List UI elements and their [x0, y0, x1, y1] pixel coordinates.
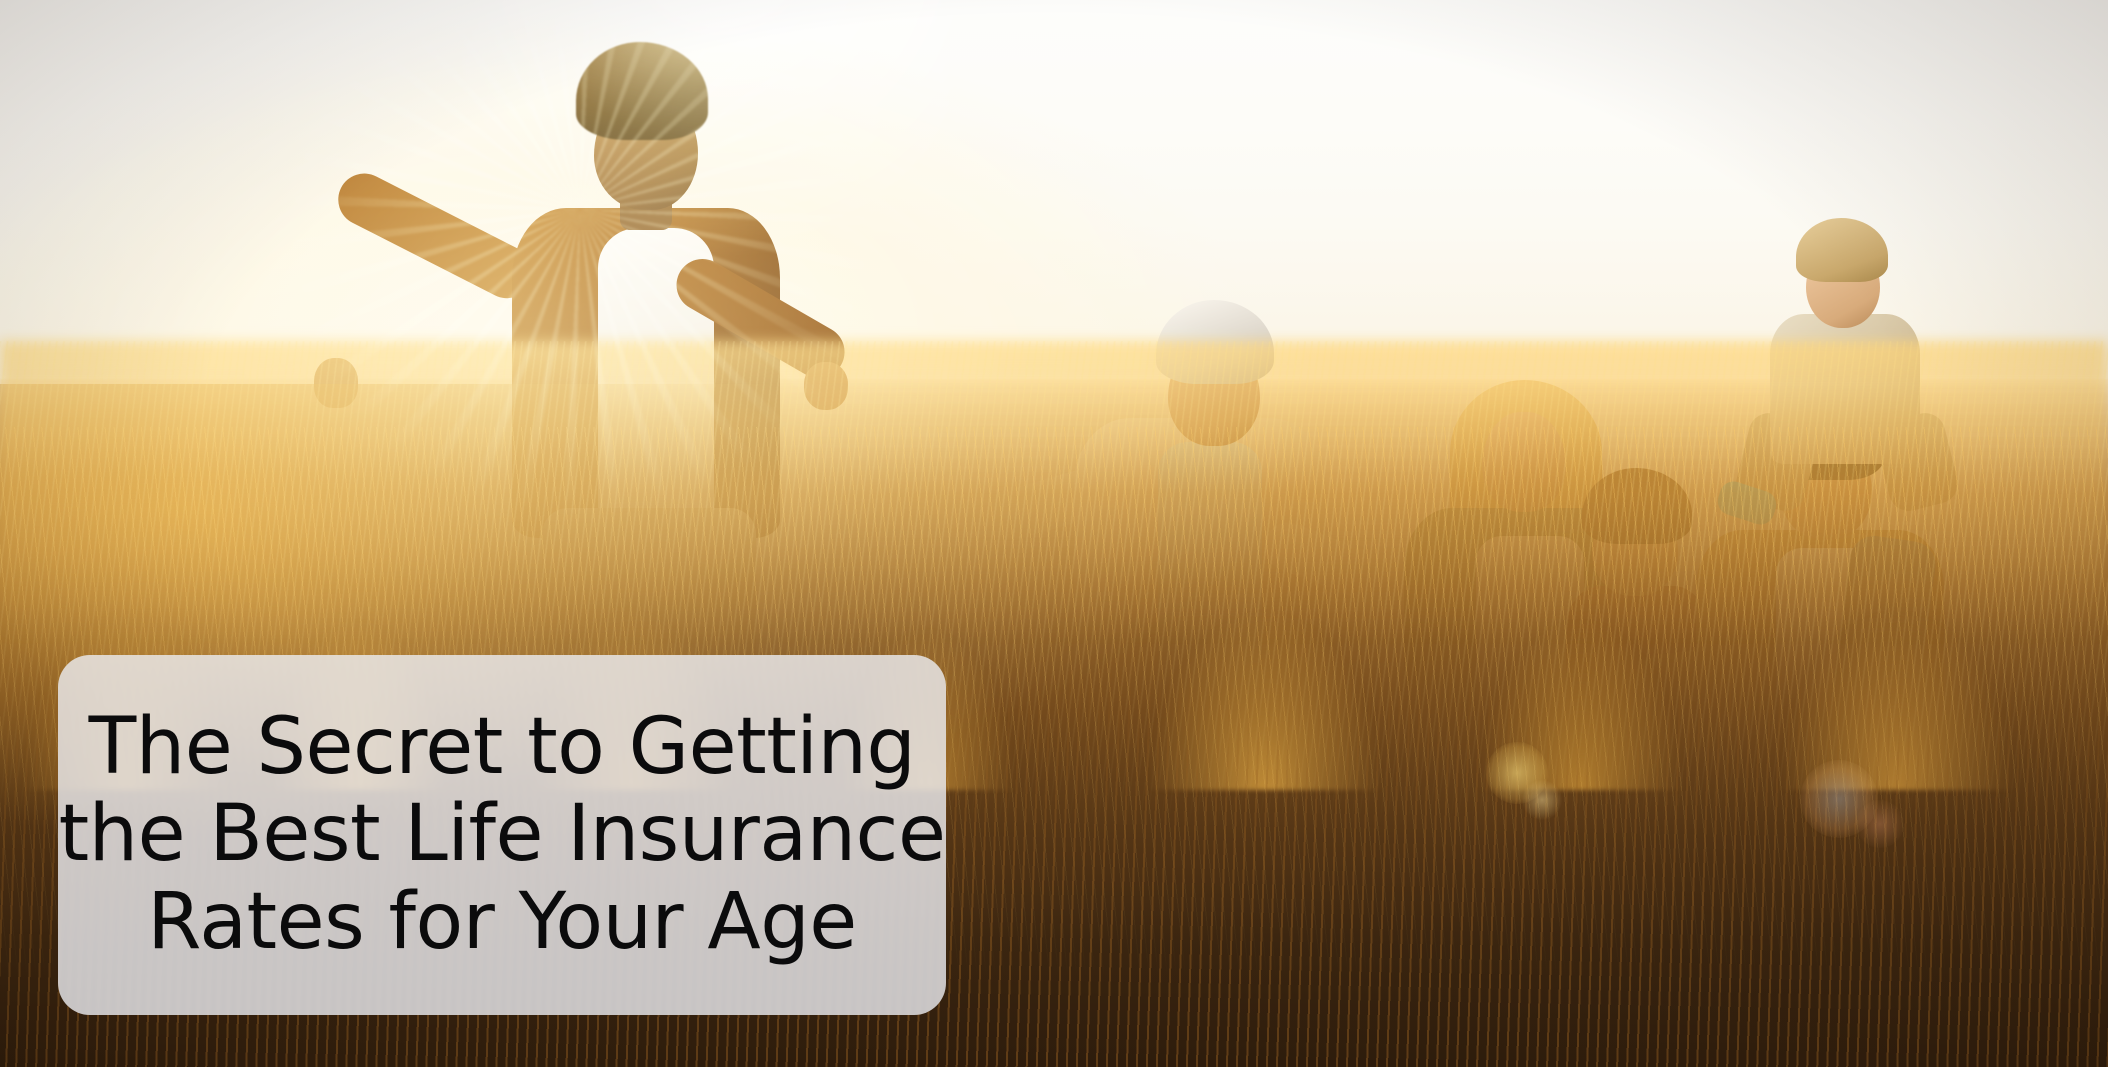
hero-banner: The Secret to Getting the Best Life Insu…: [0, 0, 2108, 1067]
man-hair: [576, 42, 708, 140]
headline-card: The Secret to Getting the Best Life Insu…: [58, 655, 946, 1015]
toddler-hair: [1796, 218, 1888, 282]
headline-line-3: Rates for Your Age: [147, 879, 857, 966]
headline-line-1: The Secret to Getting: [89, 704, 916, 791]
headline-line-2: the Best Life Insurance: [59, 791, 946, 878]
